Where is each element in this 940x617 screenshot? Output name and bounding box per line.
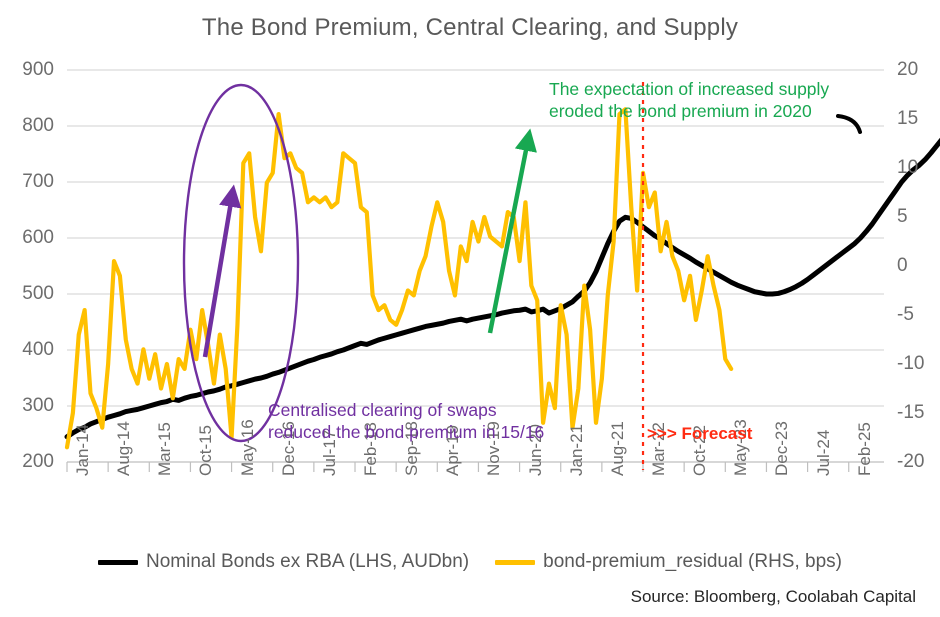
legend-item-bond-premium: bond-premium_residual (RHS, bps)	[495, 551, 842, 573]
chart-container: The Bond Premium, Central Clearing, and …	[0, 0, 940, 617]
x-tick-marks	[67, 462, 884, 472]
right-axis-tick--15: -15	[897, 403, 924, 422]
legend-swatch-yellow	[495, 560, 535, 565]
left-axis-tick-700: 700	[6, 172, 54, 191]
left-axis-tick-400: 400	[6, 340, 54, 359]
forecast-label: >>> Forecast	[647, 423, 752, 444]
left-axis-tick-800: 800	[6, 116, 54, 135]
left-axis-tick-500: 500	[6, 284, 54, 303]
right-axis-tick--10: -10	[897, 354, 924, 373]
x-axis-tick-jan-21: Jan-21	[567, 424, 587, 476]
legend-swatch-black	[98, 560, 138, 565]
left-axis-tick-200: 200	[6, 452, 54, 471]
x-axis-tick-jul-24: Jul-24	[814, 430, 834, 476]
chart-legend: Nominal Bonds ex RBA (LHS, AUDbn) bond-p…	[0, 551, 940, 573]
left-axis-tick-900: 900	[6, 60, 54, 79]
x-axis-tick-dec-23: Dec-23	[772, 421, 792, 476]
x-axis-tick-oct-15: Oct-15	[196, 425, 216, 476]
x-axis-tick-mar-15: Mar-15	[155, 422, 175, 476]
annotation-purple-line1: Centralised clearing of swaps	[268, 400, 544, 422]
annotation-green-line1: The expectation of increased supply	[549, 79, 829, 101]
annotation-purple-line2: reduced the bond premium in 15/16	[268, 422, 544, 444]
x-axis-tick-may-16: May-16	[238, 419, 258, 476]
x-axis-tick-aug-14: Aug-14	[114, 421, 134, 476]
right-axis-tick-20: 20	[897, 60, 918, 79]
right-axis-tick--5: -5	[897, 305, 914, 324]
annotation-centralised-clearing: Centralised clearing of swaps reduced th…	[268, 400, 544, 444]
right-axis-tick--20: -20	[897, 452, 924, 471]
series-bond-premium	[67, 109, 731, 447]
annotation-green-line2: eroded the bond premium in 2020	[549, 101, 829, 123]
annotation-increased-supply: The expectation of increased supply erod…	[549, 79, 829, 123]
right-axis-tick-0: 0	[897, 256, 908, 275]
purple-arrow	[205, 196, 232, 357]
left-axis-tick-600: 600	[6, 228, 54, 247]
right-axis-tick-15: 15	[897, 109, 918, 128]
legend-label-nominal-bonds: Nominal Bonds ex RBA (LHS, AUDbn)	[146, 551, 469, 573]
right-axis-tick-5: 5	[897, 207, 908, 226]
legend-item-nominal-bonds: Nominal Bonds ex RBA (LHS, AUDbn)	[98, 551, 469, 573]
x-axis-tick-feb-25: Feb-25	[855, 422, 875, 476]
x-axis-tick-aug-21: Aug-21	[608, 421, 628, 476]
left-axis-tick-300: 300	[6, 396, 54, 415]
green-annotation-pointer	[838, 116, 860, 132]
x-axis-tick-jan-14: Jan-14	[73, 424, 93, 476]
legend-label-bond-premium: bond-premium_residual (RHS, bps)	[543, 551, 842, 573]
right-axis-tick-10: 10	[897, 158, 918, 177]
source-note: Source: Bloomberg, Coolabah Capital	[631, 587, 916, 607]
